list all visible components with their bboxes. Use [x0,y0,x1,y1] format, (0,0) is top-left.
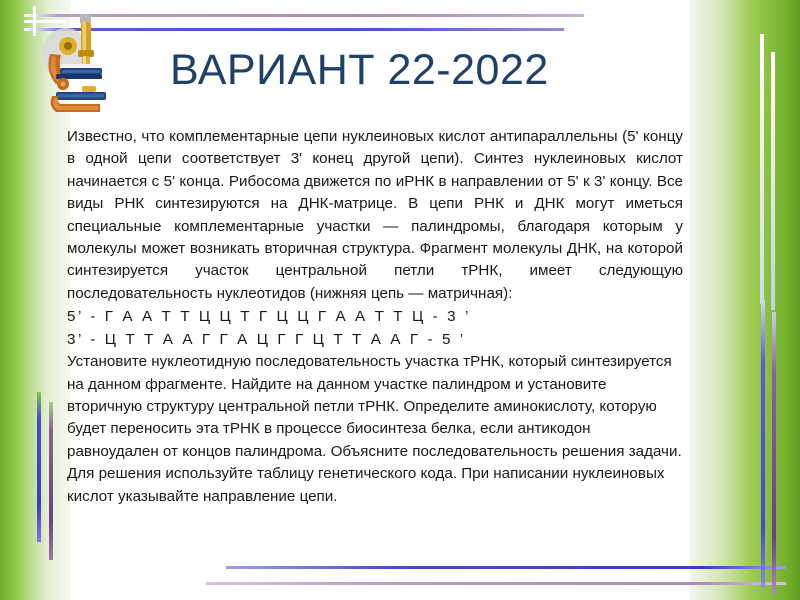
dna-sequence-bottom-strand: 3’ - Ц Т Т А А Г Г А Ц Г Г Ц Т Т А А Г -… [67,328,683,351]
bottom-blue-rule [226,566,786,569]
task-paragraph: Установите нуклеотидную последовательнос… [67,351,683,508]
right-pale-vertical-bar-1 [760,34,764,304]
bottom-pink-rule [206,582,786,585]
right-pale-vertical-bar-2 [771,52,775,310]
dna-sequence-block: 5’ - Г А А Т Т Ц Ц Т Г Ц Ц Г А А Т Т Ц -… [67,305,683,351]
presentation-slide: ВАРИАНТ 22-2022 Известно, что комплемент… [0,0,800,600]
slide-body: Известно, что комплементарные цепи нукле… [67,126,683,508]
dna-sequence-top-strand: 5’ - Г А А Т Т Ц Ц Т Г Ц Ц Г А А Т Т Ц -… [67,305,683,328]
microscope-icon [26,10,122,120]
intro-paragraph: Известно, что комплементарные цепи нукле… [67,126,683,305]
right-blue-vertical-bar [761,300,765,588]
left-purple-vertical-bar [49,402,53,560]
page-title: ВАРИАНТ 22-2022 [170,46,730,95]
left-blue-vertical-bar [37,392,41,542]
right-purple-vertical-bar [772,312,776,594]
